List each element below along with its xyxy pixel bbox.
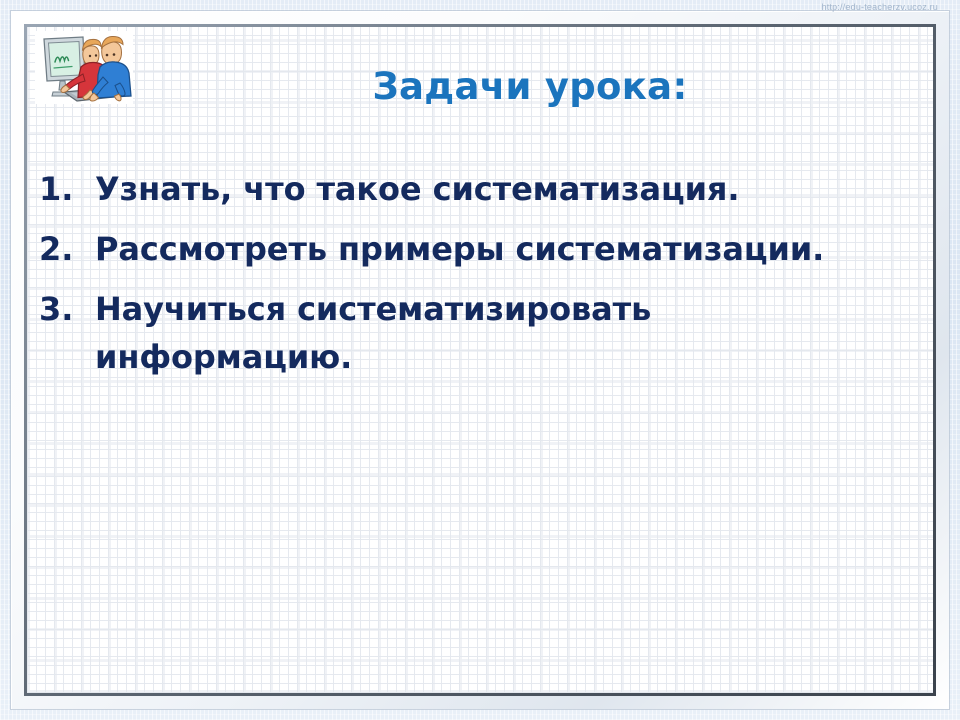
list-item-number: 2.: [39, 225, 95, 273]
list-item-label: Рассмотреть примеры систематизации.: [95, 225, 915, 273]
slide-header: Задачи урока:: [27, 27, 933, 139]
presentation-slide: Задачи урока: 1. Узнать, что такое систе…: [0, 0, 960, 720]
list-item-number: 3.: [39, 285, 95, 333]
list-item-number: 1.: [39, 165, 95, 213]
two-children-at-computer-clipart: [35, 31, 133, 104]
list-item-label: Узнать, что такое систематизация.: [95, 165, 915, 213]
source-watermark: http://edu-teacherzv.ucoz.ru: [822, 2, 939, 12]
tasks-list: 1. Узнать, что такое систематизация. 2. …: [39, 165, 915, 393]
list-item: 2. Рассмотреть примеры систематизации.: [39, 225, 915, 273]
slide-content-area: Задачи урока: 1. Узнать, что такое систе…: [27, 27, 933, 693]
list-item: 3. Научиться систематизировать информаци…: [39, 285, 915, 381]
list-item-label: Научиться систематизировать информацию.: [95, 285, 915, 381]
page-title: Задачи урока:: [147, 65, 913, 109]
list-item: 1. Узнать, что такое систематизация.: [39, 165, 915, 213]
